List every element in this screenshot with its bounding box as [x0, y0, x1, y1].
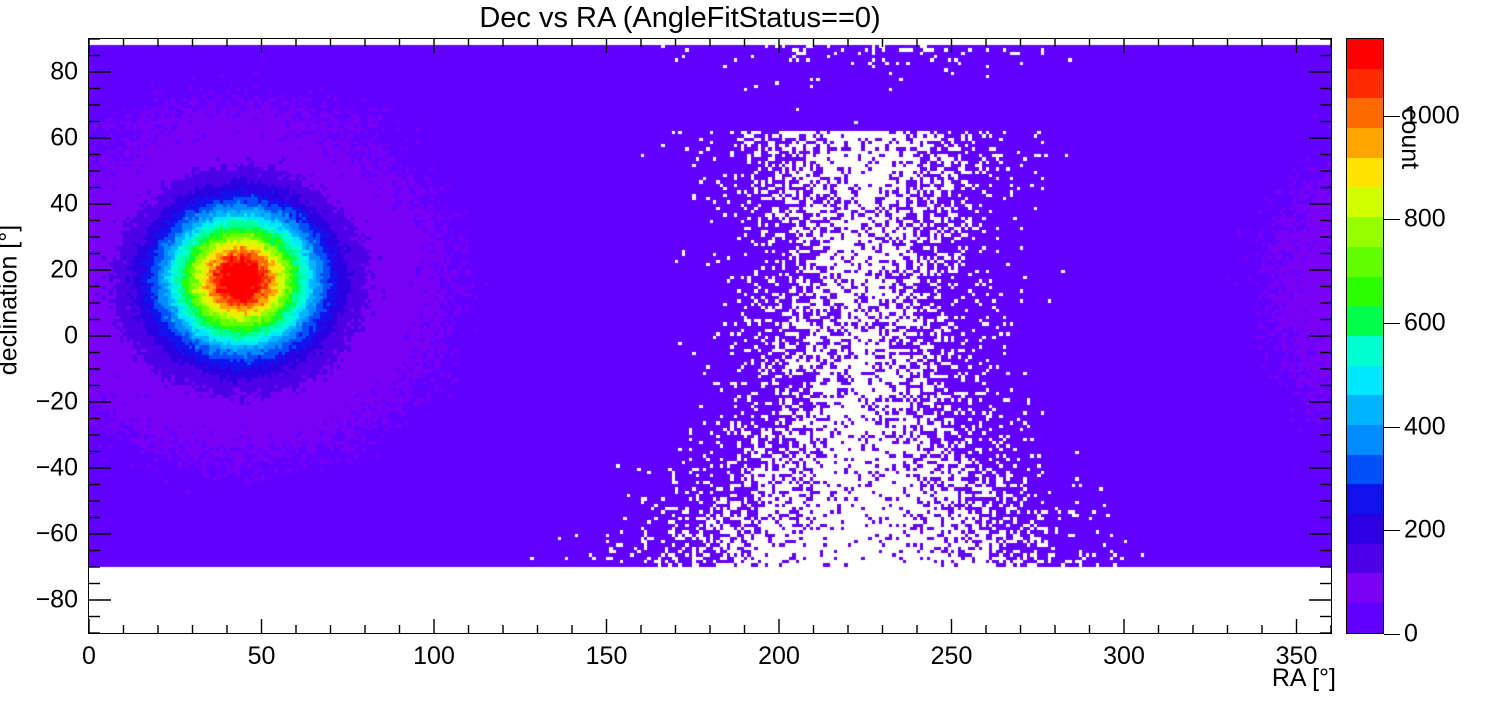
colorbar-tick-label: 400: [1404, 412, 1446, 441]
y-tick-label: −80: [0, 586, 78, 615]
colorbar-band: [1347, 366, 1383, 396]
page-title: Dec vs RA (AngleFitStatus==0): [0, 2, 1360, 35]
colorbar-tick-label: 800: [1404, 205, 1446, 234]
colorbar-band: [1347, 187, 1383, 217]
colorbar-band: [1347, 69, 1383, 99]
colorbar-tick-label: 200: [1404, 516, 1446, 545]
colorbar-band: [1347, 425, 1383, 455]
y-tick-label: −20: [0, 388, 78, 417]
colorbar-band: [1347, 455, 1383, 485]
x-axis-title: RA [°]: [1272, 664, 1336, 693]
colorbar-band: [1347, 98, 1383, 128]
x-tick-label: 100: [413, 642, 455, 671]
histogram-canvas: [89, 39, 1331, 633]
colorbar-band: [1347, 39, 1383, 69]
colorbar-band: [1347, 128, 1383, 158]
colorbar-tick-mark: [1384, 427, 1400, 428]
colorbar-band: [1347, 395, 1383, 425]
colorbar-band: [1347, 484, 1383, 514]
y-tick-label: 80: [0, 58, 78, 87]
plot-frame: [88, 38, 1332, 634]
colorbar-tick-label: 0: [1404, 620, 1418, 649]
colorbar-band: [1347, 306, 1383, 336]
x-tick-label: 150: [586, 642, 628, 671]
colorbar-band: [1347, 277, 1383, 307]
colorbar-tick-mark: [1384, 634, 1400, 635]
colorbar-band: [1347, 573, 1383, 603]
x-tick-label: 250: [931, 642, 973, 671]
root-figure: Dec vs RA (AngleFitStatus==0) 0501001502…: [0, 0, 1496, 722]
colorbar: 02004006008001000: [1346, 38, 1384, 634]
y-tick-label: −40: [0, 454, 78, 483]
colorbar-band: [1347, 158, 1383, 188]
colorbar-band: [1347, 247, 1383, 277]
colorbar-band: [1347, 217, 1383, 247]
colorbar-gradient: [1346, 38, 1384, 634]
colorbar-tick-mark: [1384, 530, 1400, 531]
x-tick-label: 200: [758, 642, 800, 671]
y-tick-label: 40: [0, 190, 78, 219]
x-tick-label: 300: [1103, 642, 1145, 671]
x-tick-label: 50: [248, 642, 276, 671]
colorbar-tick-mark: [1384, 219, 1400, 220]
colorbar-band: [1347, 603, 1383, 633]
colorbar-tick-mark: [1384, 323, 1400, 324]
colorbar-band: [1347, 514, 1383, 544]
colorbar-band: [1347, 336, 1383, 366]
colorbar-title: count: [1395, 108, 1424, 169]
colorbar-band: [1347, 544, 1383, 574]
colorbar-tick-label: 600: [1404, 309, 1446, 338]
y-axis-title: declination [°]: [0, 225, 24, 375]
x-tick-label: 0: [82, 642, 96, 671]
y-tick-label: 60: [0, 124, 78, 153]
y-tick-label: −60: [0, 520, 78, 549]
